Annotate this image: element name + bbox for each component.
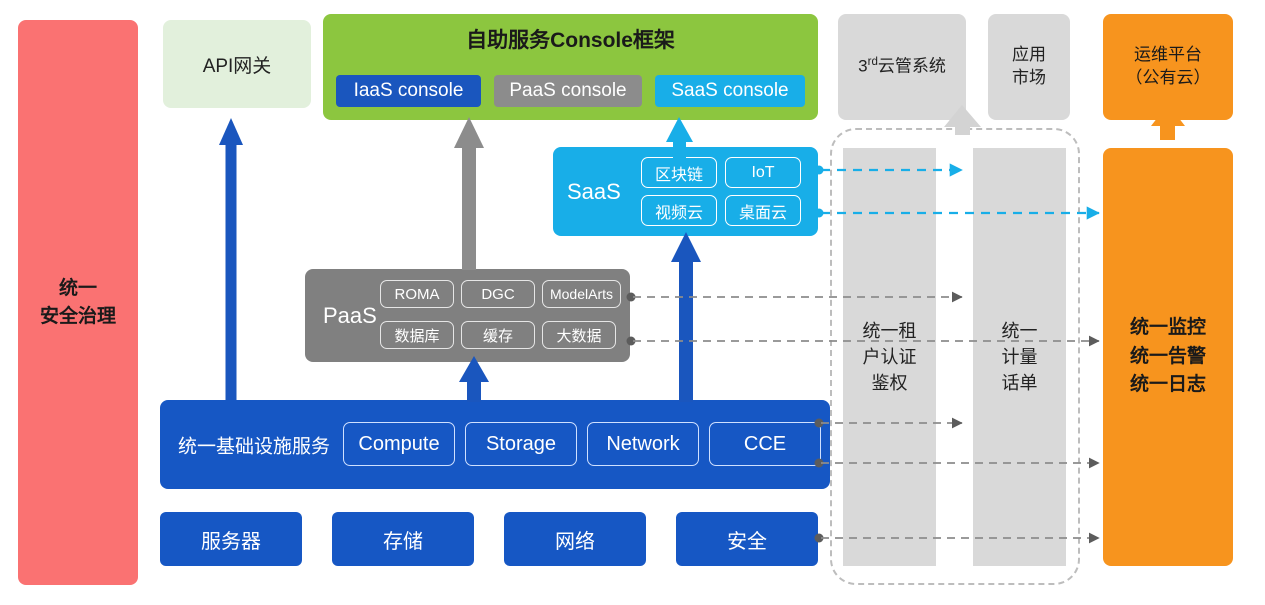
architecture-diagram: 统一 安全治理 API网关 自助服务Console框架 IaaS console…: [0, 0, 1265, 605]
paas-chip-roma[interactable]: ROMA: [380, 280, 454, 308]
security-line-2: 安全治理: [40, 303, 116, 331]
security-line-1: 统一: [59, 275, 97, 303]
metering-line-1: 统一: [1002, 318, 1038, 344]
infra-chip-cce[interactable]: CCE: [709, 422, 821, 466]
resource-box-security: 安全: [676, 512, 818, 566]
unified-metering-billing-column: 统一 计量 话单: [973, 148, 1066, 566]
third-party-cloud-mgmt-box: 3rd云管系统: [838, 14, 966, 120]
tenant-auth-line-1: 统一租: [863, 318, 917, 344]
paas-chip-database-label: 数据库: [394, 325, 439, 346]
ops-platform-line-2: （公有云）: [1126, 67, 1211, 90]
saas-chip-blockchain[interactable]: 区块链: [641, 157, 717, 188]
unified-security-governance-box: 统一 安全治理: [18, 20, 138, 585]
paas-chip-modelarts[interactable]: ModelArts: [542, 280, 621, 308]
unified-tenant-auth-column: 统一租 户认证 鉴权: [843, 148, 936, 566]
paas-block-label: PaaS: [323, 303, 377, 329]
arrow-infra-to-saas: [671, 232, 701, 402]
third-party-superscript: rd: [868, 56, 878, 68]
app-market-line-1: 应用: [1012, 44, 1046, 67]
arrow-paas-to-console: [454, 117, 484, 270]
infra-chip-compute-label: Compute: [358, 433, 439, 456]
ops-platform-line-1: 运维平台: [1134, 44, 1202, 67]
paas-chip-dgc-label: DGC: [481, 286, 514, 303]
arrow-infra-to-paas: [459, 356, 489, 402]
paas-console-pill[interactable]: PaaS console: [494, 75, 642, 107]
tenant-auth-line-2: 户认证: [863, 344, 917, 370]
resource-server-label: 服务器: [201, 525, 261, 554]
infra-chip-network[interactable]: Network: [587, 422, 699, 466]
tenant-auth-line-3: 鉴权: [872, 370, 908, 396]
self-service-console-frame: 自助服务Console框架 IaaS console PaaS console …: [323, 14, 818, 120]
api-gateway-label: API网关: [203, 51, 272, 78]
paas-chip-dgc[interactable]: DGC: [461, 280, 535, 308]
paas-chip-cache-label: 缓存: [483, 325, 513, 346]
resource-box-server: 服务器: [160, 512, 302, 566]
console-frame-title: 自助服务Console框架: [323, 24, 818, 54]
resource-box-network: 网络: [504, 512, 646, 566]
saas-block: SaaS 区块链 IoT 视频云 桌面云: [553, 147, 818, 236]
infra-chip-compute[interactable]: Compute: [343, 422, 455, 466]
unified-infrastructure-service-bar: 统一基础设施服务 Compute Storage Network CCE: [160, 400, 830, 489]
saas-chip-video-cloud[interactable]: 视频云: [641, 195, 717, 226]
metering-line-2: 计量: [1002, 344, 1038, 370]
api-gateway-box: API网关: [163, 20, 311, 108]
ops-platform-public-cloud-box: 运维平台 （公有云）: [1103, 14, 1233, 120]
ops-tall-line-3: 统一日志: [1130, 371, 1206, 400]
infra-chip-storage-label: Storage: [486, 433, 556, 456]
saas-chip-iot-label: IoT: [751, 164, 774, 182]
resource-box-storage: 存储: [332, 512, 474, 566]
paas-chip-bigdata[interactable]: 大数据: [542, 321, 616, 349]
saas-console-label: SaaS console: [671, 80, 788, 102]
resource-storage-label: 存储: [383, 525, 423, 554]
paas-chip-modelarts-label: ModelArts: [550, 286, 613, 302]
infra-chip-cce-label: CCE: [744, 433, 786, 456]
infra-bar-label: 统一基础设施服务: [178, 431, 330, 458]
resource-network-label: 网络: [555, 525, 595, 554]
saas-chip-video-cloud-label: 视频云: [655, 199, 703, 223]
iaas-console-pill[interactable]: IaaS console: [336, 75, 481, 107]
paas-chip-database[interactable]: 数据库: [380, 321, 454, 349]
paas-block: PaaS ROMA DGC ModelArts 数据库 缓存 大数据: [305, 269, 630, 362]
saas-block-label: SaaS: [567, 179, 621, 205]
infra-chip-network-label: Network: [606, 433, 679, 456]
third-party-label: 3rd云管系统: [858, 55, 946, 79]
saas-chip-blockchain-label: 区块链: [655, 161, 703, 185]
unified-monitoring-alarm-log-box: 统一监控 统一告警 统一日志: [1103, 148, 1233, 566]
metering-line-3: 话单: [1002, 370, 1038, 396]
saas-chip-desktop-cloud[interactable]: 桌面云: [725, 195, 801, 226]
iaas-console-label: IaaS console: [354, 80, 464, 102]
saas-chip-iot[interactable]: IoT: [725, 157, 801, 188]
saas-console-pill[interactable]: SaaS console: [655, 75, 805, 107]
app-market-box: 应用 市场: [988, 14, 1070, 120]
ops-tall-line-2: 统一告警: [1130, 343, 1206, 372]
paas-chip-bigdata-label: 大数据: [556, 325, 601, 346]
app-market-line-2: 市场: [1012, 67, 1046, 90]
infra-chip-storage[interactable]: Storage: [465, 422, 577, 466]
paas-console-label: PaaS console: [509, 80, 626, 102]
resource-security-label: 安全: [727, 525, 767, 554]
arrow-infra-to-api-gateway: [219, 118, 243, 400]
paas-chip-roma-label: ROMA: [395, 286, 440, 303]
paas-chip-cache[interactable]: 缓存: [461, 321, 535, 349]
saas-chip-desktop-cloud-label: 桌面云: [739, 199, 787, 223]
ops-tall-line-1: 统一监控: [1130, 314, 1206, 343]
